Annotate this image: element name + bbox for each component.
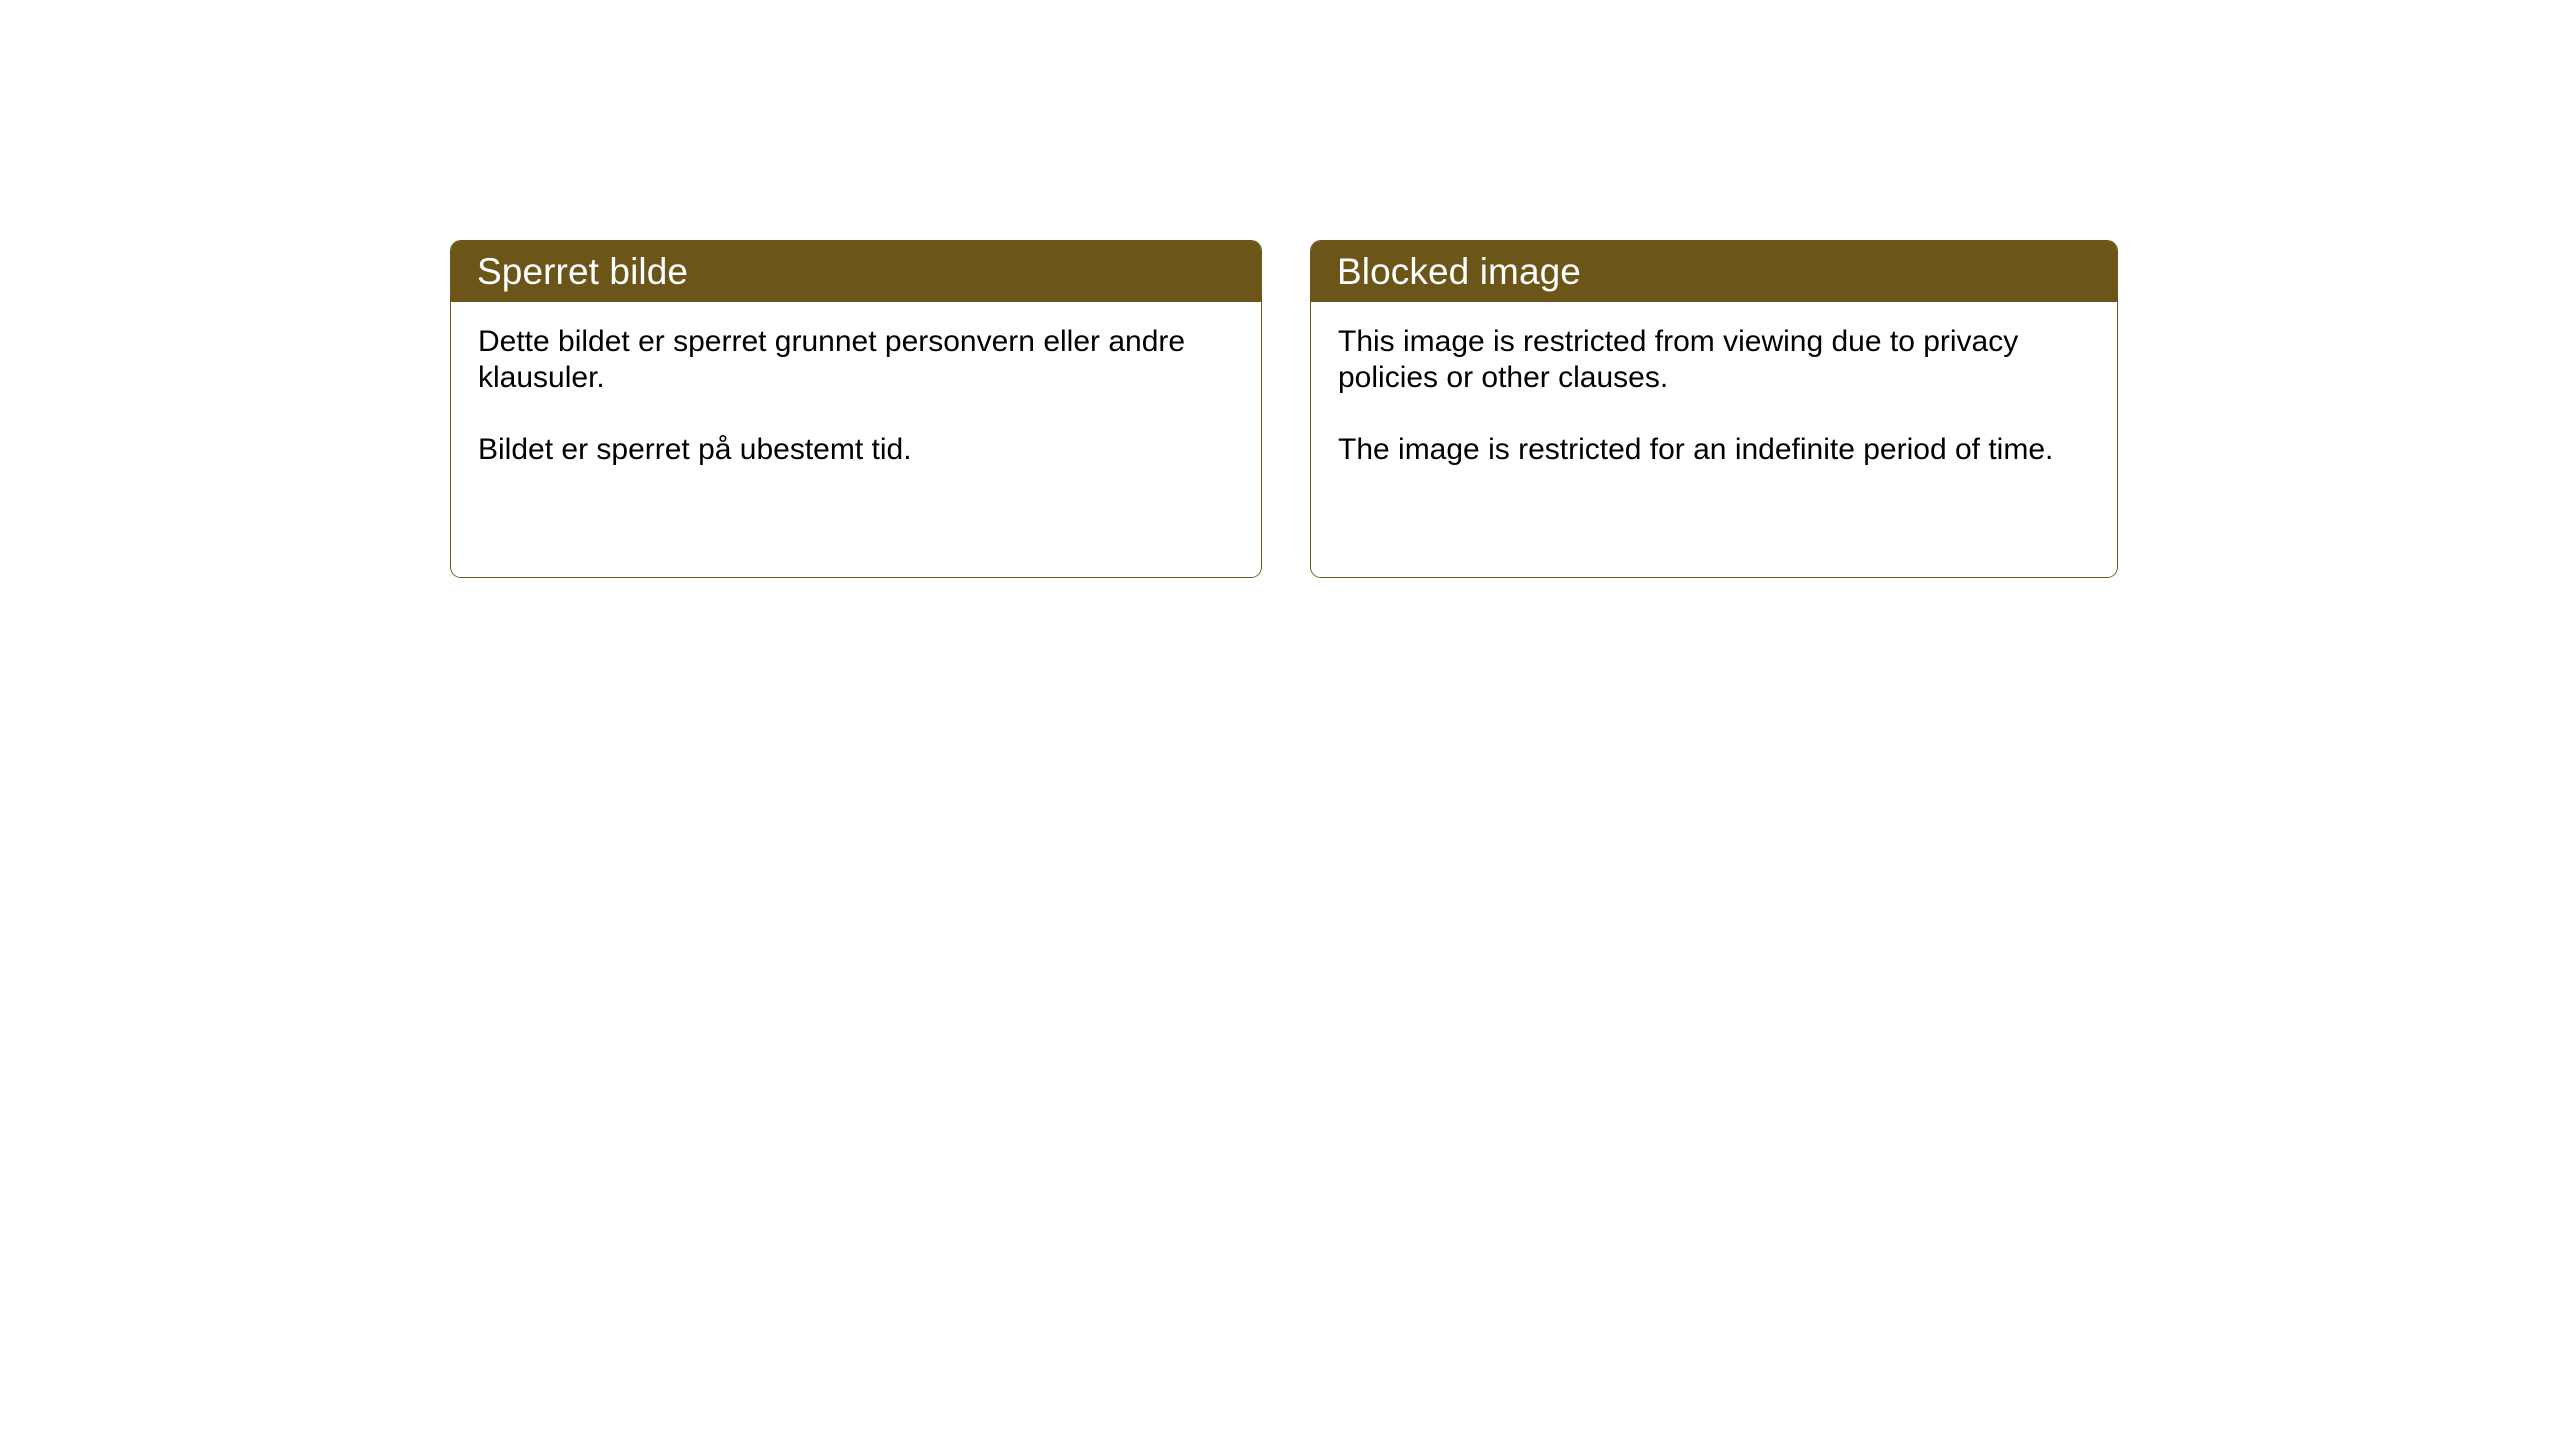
blocked-image-notice-en: Blocked image This image is restricted f…	[1310, 240, 2118, 578]
notice-card-group: Sperret bilde Dette bildet er sperret gr…	[450, 240, 2118, 578]
card-body-en: This image is restricted from viewing du…	[1311, 302, 2117, 577]
blocked-image-notice-no: Sperret bilde Dette bildet er sperret gr…	[450, 240, 1262, 578]
page-root: Sperret bilde Dette bildet er sperret gr…	[0, 0, 2560, 1440]
card-title-en: Blocked image	[1337, 253, 1581, 290]
card-header-en: Blocked image	[1310, 240, 2118, 302]
card-paragraph-no-2: Bildet er sperret på ubestemt tid.	[478, 432, 1237, 468]
card-paragraph-en-2: The image is restricted for an indefinit…	[1338, 432, 2093, 468]
card-title-no: Sperret bilde	[477, 253, 688, 290]
card-paragraph-no-1: Dette bildet er sperret grunnet personve…	[478, 324, 1237, 396]
card-body-no: Dette bildet er sperret grunnet personve…	[451, 302, 1261, 577]
card-header-no: Sperret bilde	[450, 240, 1262, 302]
card-paragraph-en-1: This image is restricted from viewing du…	[1338, 324, 2093, 396]
